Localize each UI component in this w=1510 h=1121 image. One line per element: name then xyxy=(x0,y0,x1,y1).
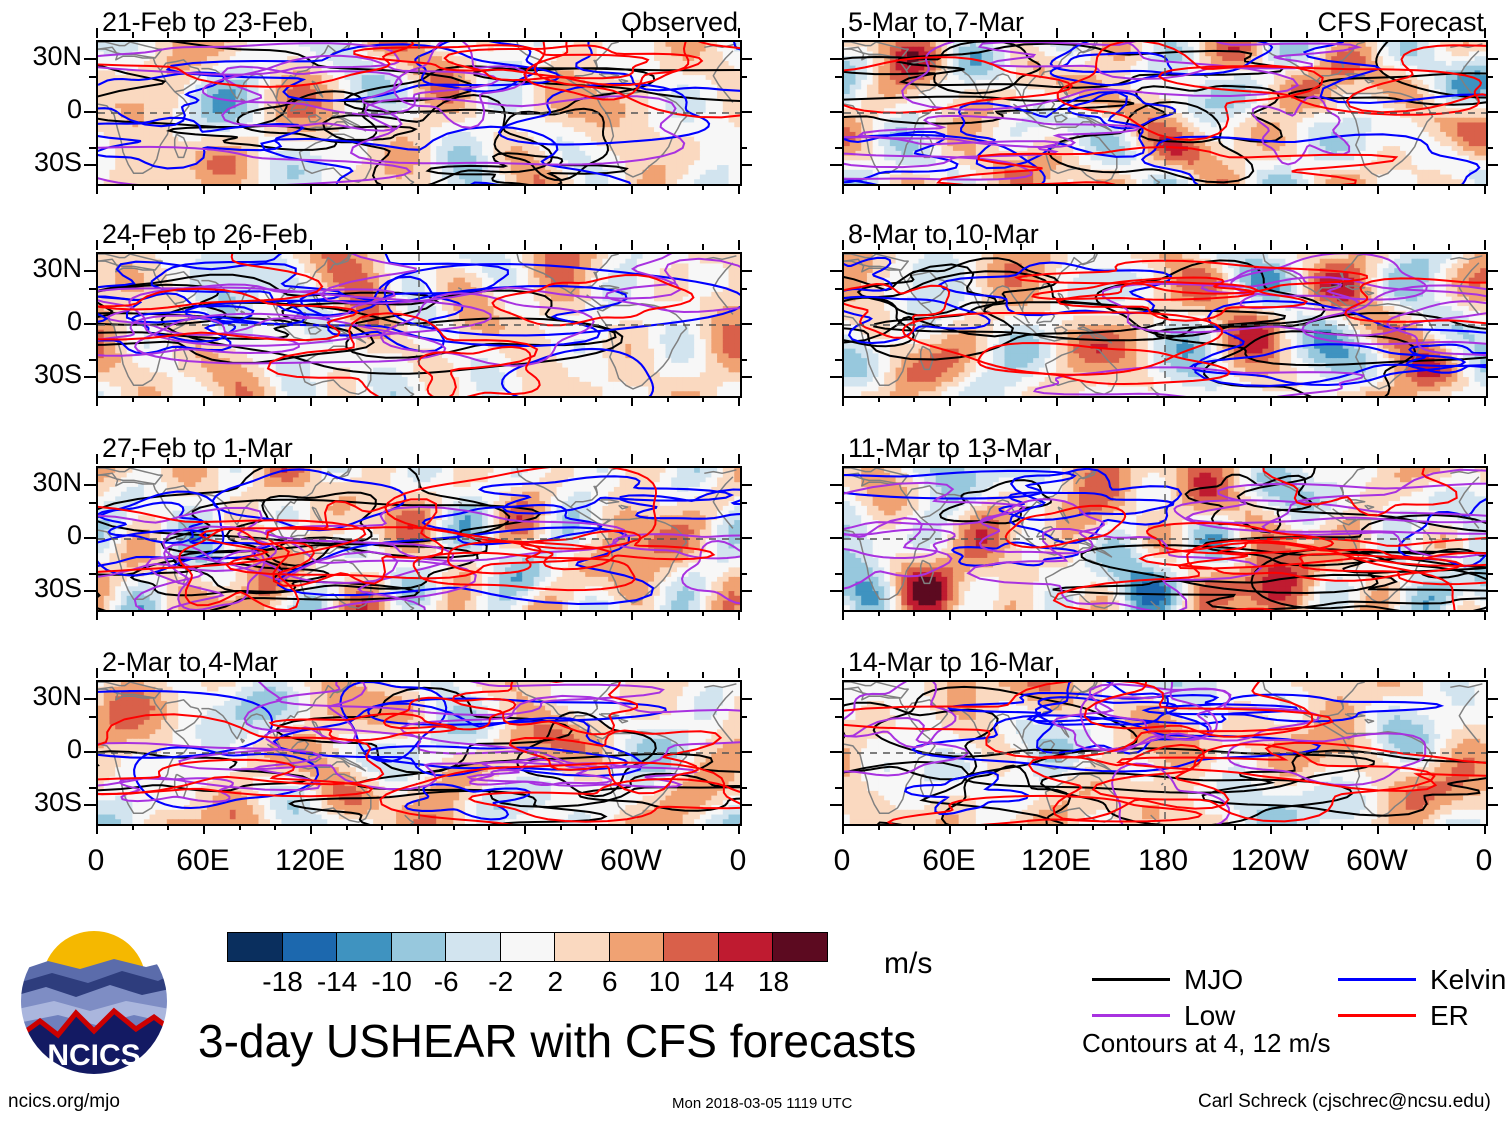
axis-ticks-obs-3 xyxy=(96,466,738,608)
panel-title-fcst-2: 8-Mar to 10-Mar xyxy=(848,219,1039,250)
colorbar-units-label: m/s xyxy=(884,947,932,981)
axis-ticks-fcst-1 xyxy=(842,40,1484,182)
x-tick-label: 60W xyxy=(1317,844,1437,878)
colorbar: -18-14-10-6-226101418 xyxy=(228,932,828,1000)
colorbar-swatch xyxy=(336,932,392,962)
y-tick-label: 0 xyxy=(4,306,82,337)
x-tick-label: 0 xyxy=(1424,844,1510,878)
axis-ticks-obs-1 xyxy=(96,40,738,182)
x-tick-label: 120E xyxy=(996,844,1116,878)
y-tick-label: 30S xyxy=(4,573,82,604)
axis-ticks-obs-4 xyxy=(96,680,738,822)
colorbar-swatch xyxy=(445,932,501,962)
y-tick-label: 0 xyxy=(4,520,82,551)
y-tick-label: 30N xyxy=(4,41,82,72)
legend-label-er: ER xyxy=(1430,1000,1469,1032)
x-tick-label: 60E xyxy=(143,844,263,878)
colorbar-swatch xyxy=(554,932,610,962)
axis-ticks-fcst-4 xyxy=(842,680,1484,822)
x-tick-label: 60E xyxy=(889,844,1009,878)
colorbar-tick-label: 18 xyxy=(733,966,813,998)
colorbar-swatch xyxy=(282,932,338,962)
legend-swatch-kelvin-x2 xyxy=(1338,978,1416,981)
legend-swatch-mjo xyxy=(1092,978,1170,981)
axis-ticks-fcst-2 xyxy=(842,252,1484,394)
x-tick-label: 0 xyxy=(36,844,156,878)
legend-label-mjo: MJO xyxy=(1184,964,1243,996)
column-header-forecast: CFS Forecast xyxy=(842,7,1484,38)
panel-title-obs-3: 27-Feb to 1-Mar xyxy=(102,433,293,464)
colorbar-swatch xyxy=(609,932,665,962)
page-title: 3-day USHEAR with CFS forecasts xyxy=(198,1014,916,1068)
x-tick-label: 180 xyxy=(357,844,477,878)
y-tick-label: 30S xyxy=(4,787,82,818)
colorbar-swatch xyxy=(500,932,556,962)
colorbar-swatch xyxy=(663,932,719,962)
colorbar-swatch xyxy=(772,932,828,962)
y-tick-label: 0 xyxy=(4,734,82,765)
y-tick-label: 30N xyxy=(4,253,82,284)
legend-swatch-low xyxy=(1092,1014,1170,1017)
y-tick-label: 30S xyxy=(4,359,82,390)
colorbar-swatch xyxy=(718,932,774,962)
footer-center: Mon 2018-03-05 1119 UTC xyxy=(672,1095,852,1112)
footer-left[interactable]: ncics.org/mjo xyxy=(8,1091,120,1113)
colorbar-swatch xyxy=(391,932,447,962)
x-tick-label: 0 xyxy=(782,844,902,878)
y-tick-label: 30N xyxy=(4,681,82,712)
axis-ticks-fcst-3 xyxy=(842,466,1484,608)
x-tick-label: 120W xyxy=(464,844,584,878)
axis-ticks-obs-2 xyxy=(96,252,738,394)
x-tick-label: 120W xyxy=(1210,844,1330,878)
panel-title-obs-4: 2-Mar to 4-Mar xyxy=(102,647,278,678)
legend-swatch-er xyxy=(1338,1014,1416,1017)
ncics-logo: NCICS xyxy=(18,925,170,1077)
x-tick-label: 120E xyxy=(250,844,370,878)
contour-note-label: Contours at 4, 12 m/s xyxy=(1082,1028,1331,1059)
y-tick-label: 30N xyxy=(4,467,82,498)
y-tick-label: 0 xyxy=(4,94,82,125)
x-tick-label: 180 xyxy=(1103,844,1223,878)
colorbar-swatch xyxy=(227,932,283,962)
logo-text: NCICS xyxy=(47,1039,140,1072)
y-tick-label: 30S xyxy=(4,147,82,178)
footer-right: Carl Schreck (cjschrec@ncsu.edu) xyxy=(1198,1091,1491,1113)
x-tick-label: 60W xyxy=(571,844,691,878)
x-tick-label: 0 xyxy=(678,844,798,878)
column-header-observed: Observed xyxy=(96,7,738,38)
legend-label-kelvin-x2: Kelvin x2 xyxy=(1430,964,1510,996)
